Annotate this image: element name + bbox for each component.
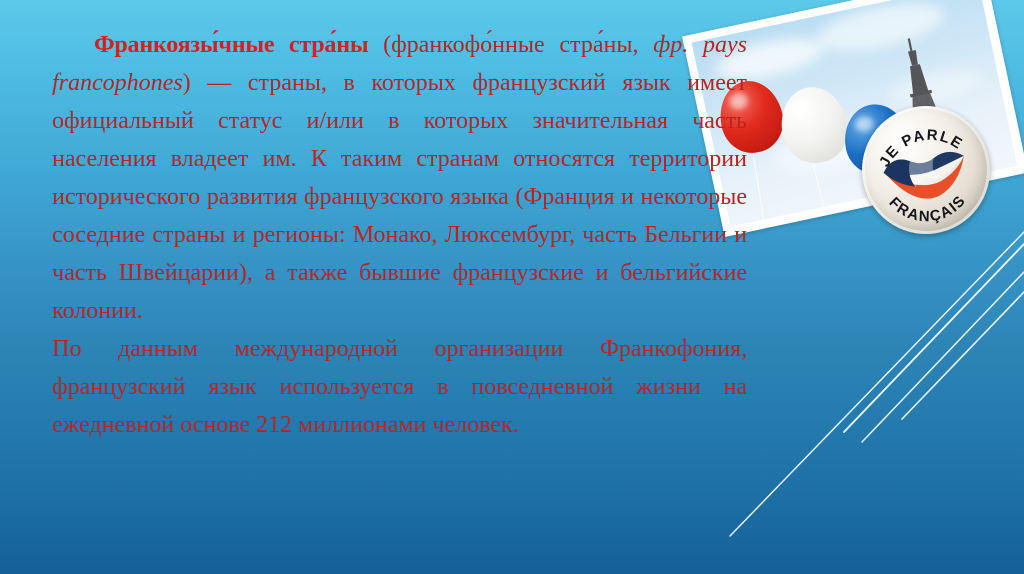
badge-graphic: JE PARLE FRANÇAIS (854, 98, 999, 243)
lead-suffix: (франкофо́нные стра́ны, (368, 32, 653, 58)
definition-rest: ) — страны, в которых французский язык и… (52, 70, 747, 324)
paragraph-statistics: По данным международной организации Фран… (52, 330, 747, 444)
paragraph-definition: Франкоязы́чные стра́ны (франкофо́нные ст… (52, 26, 747, 330)
je-parle-francais-badge: JE PARLE FRANÇAIS (854, 98, 999, 243)
lead-term: Франкоязы́чные стра́ны (94, 32, 368, 58)
slide: JE PARLE FRANÇAIS Франкоязы́чные стра́ны… (0, 0, 1024, 574)
balloon-string (753, 152, 765, 219)
slide-body-text: Франкоязы́чные стра́ны (франкофо́нные ст… (52, 26, 747, 444)
